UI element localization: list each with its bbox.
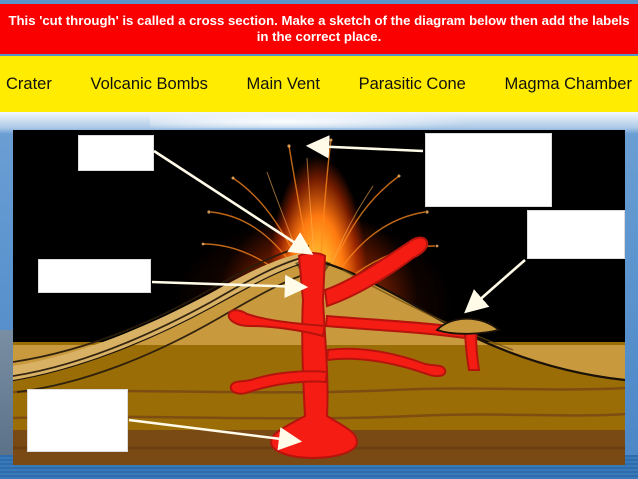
instruction-text: This 'cut through' is called a cross sec… xyxy=(8,13,630,45)
label-box-top-left[interactable] xyxy=(78,135,154,171)
word-bank-item-volcanic-bombs[interactable]: Volcanic Bombs xyxy=(90,75,207,94)
instruction-banner: This 'cut through' is called a cross sec… xyxy=(0,4,638,54)
label-box-bottom-left[interactable] xyxy=(27,389,128,452)
word-bank-item-main-vent[interactable]: Main Vent xyxy=(247,75,320,94)
volcano-diagram xyxy=(13,130,625,465)
cloud-puff-icon xyxy=(150,112,480,128)
label-box-top-right[interactable] xyxy=(425,133,552,207)
label-box-mid-right[interactable] xyxy=(527,210,625,259)
parasitic-cone-bump xyxy=(437,319,499,334)
word-bank: Crater Volcanic Bombs Main Vent Parasiti… xyxy=(0,56,638,112)
word-bank-item-parasitic-cone[interactable]: Parasitic Cone xyxy=(359,75,466,94)
word-bank-item-crater[interactable]: Crater xyxy=(6,75,52,94)
label-box-mid-left[interactable] xyxy=(38,259,151,293)
slide: This 'cut through' is called a cross sec… xyxy=(0,0,638,479)
word-bank-item-magma-chamber[interactable]: Magma Chamber xyxy=(505,75,632,94)
